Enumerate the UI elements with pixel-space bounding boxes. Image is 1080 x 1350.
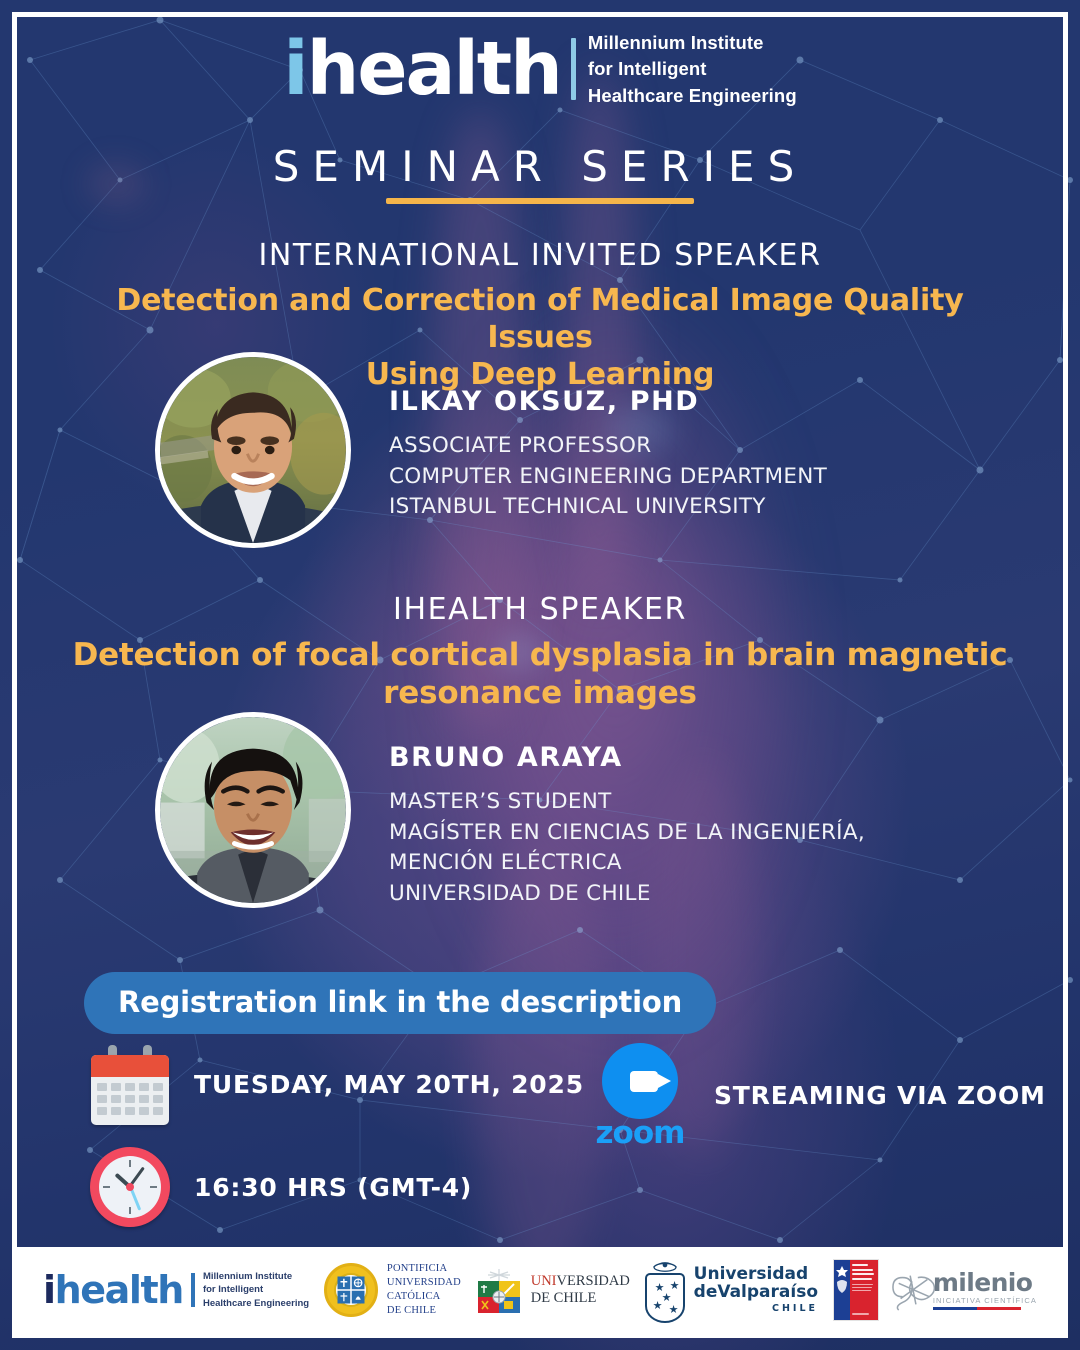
calendar-day-grid	[97, 1083, 163, 1115]
puc-line-1: PONTIFICIA	[387, 1262, 461, 1276]
footer-logo-i-letter: i	[43, 1268, 55, 1312]
puc-coat-of-arms	[336, 1275, 366, 1305]
clock-ring	[90, 1147, 170, 1227]
uv-line-2: deValparaíso	[694, 1284, 818, 1302]
logo-i-letter: i	[283, 26, 306, 112]
ihealth-header-logo: ihealth Millennium Institute for Intelli…	[0, 30, 1080, 109]
speaker-2-photo	[160, 717, 346, 903]
speaker-1-portrait-image	[160, 357, 346, 543]
logo-health-text: health	[307, 26, 561, 112]
footer-puc-logo: PONTIFICIA UNIVERSIDAD CATÓLICA DE CHILE	[324, 1262, 461, 1317]
anid-flag-band	[834, 1260, 850, 1320]
seminar-poster: ihealth Millennium Institute for Intelli…	[0, 0, 1080, 1350]
kicker-international-invited-speaker: INTERNATIONAL INVITED SPEAKER	[0, 238, 1080, 273]
uv-shield-wrap: ★ ★ ★ ★ ★	[645, 1258, 685, 1323]
speaker-1-name: ILKAY OKSUZ, PHD	[389, 386, 827, 417]
series-title-text: SEMINAR SERIES	[273, 142, 807, 191]
uv-crest-top	[645, 1258, 685, 1272]
puc-line-4: DE CHILE	[387, 1304, 461, 1318]
speaker-1-avatar	[155, 352, 351, 548]
milenio-wordmark: milenio	[933, 1270, 1037, 1295]
puc-seal-inner	[334, 1273, 368, 1307]
speaker-2-portrait-image	[160, 717, 346, 903]
clock-tick-9	[103, 1186, 110, 1189]
kicker-ihealth-speaker: IHEALTH SPEAKER	[0, 592, 1080, 627]
anid-icon	[833, 1259, 879, 1321]
uv-star: ★	[653, 1301, 663, 1312]
uchile-shield-icon	[476, 1267, 522, 1313]
ihealth-tagline: Millennium Institute for Intelligent Hea…	[588, 30, 797, 109]
speaker-2-avatar	[155, 712, 351, 908]
uv-text-block: Universidad deValparaíso CHILE	[694, 1266, 818, 1314]
event-streaming-row: zoom STREAMING VIA ZOOM	[592, 1043, 1046, 1147]
speaker-1-affiliation-1: ASSOCIATE PROFESSOR	[389, 431, 827, 462]
milenio-text-block: milenio INICIATIVA CIENTÍFICA	[933, 1270, 1037, 1310]
uchile-text-block: UNIVERSIDAD DE CHILE	[531, 1273, 630, 1308]
event-time-row: 16:30 HRS (GMT-4)	[88, 1145, 472, 1229]
uv-star: ★	[662, 1293, 672, 1304]
footer-logo-health-text: health	[55, 1268, 183, 1312]
zoom-camera-lens	[658, 1074, 671, 1088]
clock-icon	[88, 1145, 172, 1229]
clock-tick-3	[150, 1186, 157, 1189]
uchile-line-1-rest: VERSIDAD	[557, 1273, 630, 1289]
event-streaming-label: STREAMING VIA ZOOM	[714, 1081, 1046, 1110]
uchile-coat-of-arms	[476, 1267, 522, 1325]
footer-anid-logo: milenio INICIATIVA CIENTÍFICA	[833, 1259, 1037, 1321]
uv-line-3: CHILE	[694, 1304, 818, 1314]
uv-star: ★	[670, 1281, 680, 1292]
footer-tagline-line-2: for Intelligent	[203, 1283, 309, 1296]
uv-star: ★	[669, 1305, 679, 1316]
footer-tagline-line-3: Healthcare Engineering	[203, 1297, 309, 1310]
anid-wordmark-lines	[852, 1264, 876, 1316]
talk-title-2-line-1: Detection of focal cortical dysplasia in…	[60, 636, 1020, 674]
anid-text-band	[850, 1260, 878, 1320]
speaker-1-details: ILKAY OKSUZ, PHD ASSOCIATE PROFESSOR COM…	[389, 352, 827, 523]
chile-government-emblem	[834, 1260, 850, 1322]
milenio-color-rule	[933, 1307, 1021, 1310]
sponsor-footer: ihealth Millennium Institute for Intelli…	[17, 1247, 1063, 1333]
zoom-circle	[602, 1043, 678, 1119]
speaker-2-affiliation-4: UNIVERSIDAD DE CHILE	[389, 879, 865, 910]
footer-ihealth-logo: ihealth Millennium Institute for Intelli…	[43, 1270, 309, 1309]
series-title-underline	[386, 198, 694, 204]
tagline-line-2: for Intelligent	[588, 56, 797, 82]
speaker-1-affiliation-2: COMPUTER ENGINEERING DEPARTMENT	[389, 462, 827, 493]
ihealth-wordmark: ihealth	[283, 36, 561, 103]
footer-logo-divider	[191, 1273, 195, 1307]
speaker-2-name: BRUNO ARAYA	[389, 742, 865, 773]
milenio-knot-icon	[889, 1268, 939, 1312]
footer-uchile-logo: UNIVERSIDAD DE CHILE	[476, 1267, 630, 1313]
footer-ihealth-wordmark: ihealth	[43, 1271, 183, 1309]
event-date-row: TUESDAY, MAY 20TH, 2025	[88, 1043, 584, 1125]
speaker-1-photo	[160, 357, 346, 543]
clock-face	[99, 1156, 161, 1218]
clock-tick-6	[129, 1207, 132, 1214]
registration-link-button[interactable]: Registration link in the description	[84, 972, 716, 1034]
event-time-label: 16:30 HRS (GMT-4)	[194, 1173, 472, 1202]
zoom-camera-body	[630, 1071, 658, 1092]
calendar-header-band	[91, 1055, 169, 1077]
speaker-2-details: BRUNO ARAYA MASTER’S STUDENT MAGÍSTER EN…	[389, 712, 865, 910]
calendar-icon	[88, 1043, 172, 1125]
footer-uv-logo: ★ ★ ★ ★ ★ Universidad deValparaíso CHILE	[645, 1258, 818, 1323]
uv-shield-icon: ★ ★ ★ ★ ★	[645, 1273, 685, 1323]
talk-title-speaker-2: Detection of focal cortical dysplasia in…	[60, 636, 1020, 712]
calendar-body	[91, 1055, 169, 1125]
puc-line-3: CATÓLICA	[387, 1290, 461, 1304]
tagline-line-1: Millennium Institute	[588, 30, 797, 56]
uchile-line-1: UNIVERSIDAD	[531, 1273, 630, 1290]
clock-center-pin	[126, 1183, 134, 1191]
puc-text-block: PONTIFICIA UNIVERSIDAD CATÓLICA DE CHILE	[387, 1262, 461, 1317]
uchile-line-2: DE CHILE	[531, 1290, 630, 1307]
talk-title-2-line-2: resonance images	[60, 674, 1020, 712]
speaker-2-affiliation-3: MENCIÓN ELÉCTRICA	[389, 848, 865, 879]
footer-tagline-line-1: Millennium Institute	[203, 1270, 309, 1283]
speaker-block-2: BRUNO ARAYA MASTER’S STUDENT MAGÍSTER EN…	[155, 712, 865, 910]
logo-divider-bar	[571, 38, 576, 100]
footer-ihealth-tagline: Millennium Institute for Intelligent Hea…	[203, 1270, 309, 1309]
puc-seal-icon	[324, 1263, 378, 1317]
event-date-label: TUESDAY, MAY 20TH, 2025	[194, 1070, 584, 1099]
speaker-block-1: ILKAY OKSUZ, PHD ASSOCIATE PROFESSOR COM…	[155, 352, 827, 548]
tagline-line-3: Healthcare Engineering	[588, 83, 797, 109]
puc-line-2: UNIVERSIDAD	[387, 1276, 461, 1290]
speaker-2-affiliation-2: MAGÍSTER EN CIENCIAS DE LA INGENIERÍA,	[389, 818, 865, 849]
milenio-subtitle: INICIATIVA CIENTÍFICA	[933, 1296, 1037, 1305]
zoom-icon: zoom	[592, 1043, 688, 1147]
clock-tick-12	[129, 1160, 132, 1167]
seminar-series-title: SEMINAR SERIES	[0, 142, 1080, 204]
speaker-1-affiliation-3: ISTANBUL TECHNICAL UNIVERSITY	[389, 492, 827, 523]
uchile-line-1-prefix: UNI	[531, 1273, 557, 1289]
zoom-wordmark: zoom	[592, 1115, 688, 1151]
speaker-2-affiliation-1: MASTER’S STUDENT	[389, 787, 865, 818]
talk-title-1-line-1: Detection and Correction of Medical Imag…	[60, 283, 1020, 357]
